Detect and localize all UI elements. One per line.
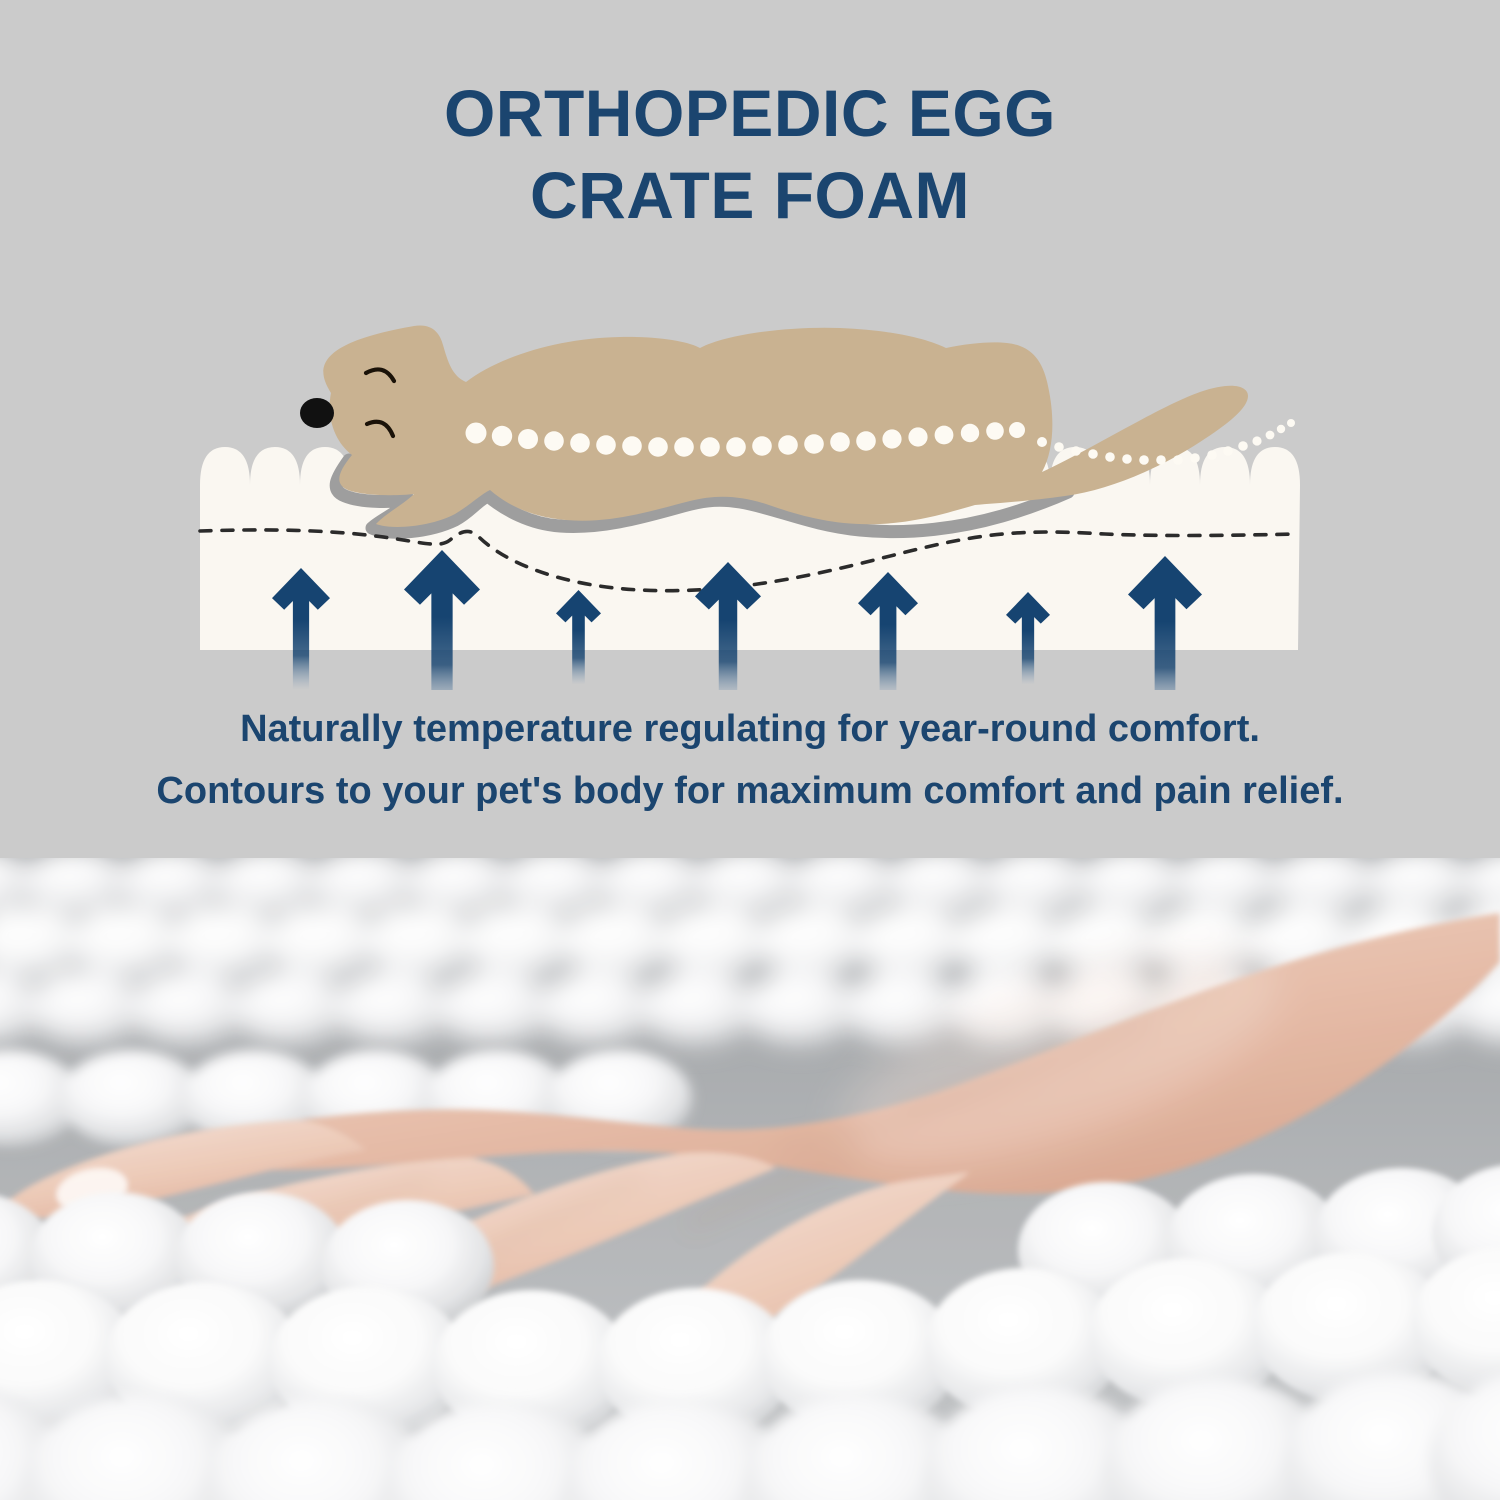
feature-caption-line-2: Contours to your pet's body for maximum … bbox=[0, 760, 1500, 822]
feature-caption: Naturally temperature regulating for yea… bbox=[0, 698, 1500, 822]
page-title-line-2: CRATE FOAM bbox=[0, 154, 1500, 236]
info-panel: ORTHOPEDIC EGG CRATE FOAM bbox=[0, 0, 1500, 858]
page-title: ORTHOPEDIC EGG CRATE FOAM bbox=[0, 72, 1500, 236]
hand-pressing-egg-crate-foam-photo bbox=[0, 858, 1500, 1500]
dog-nose bbox=[300, 398, 334, 428]
orthopedic-foam-support-diagram bbox=[0, 300, 1500, 690]
feature-caption-line-1: Naturally temperature regulating for yea… bbox=[0, 698, 1500, 760]
product-infographic-page: ORTHOPEDIC EGG CRATE FOAM bbox=[0, 0, 1500, 1500]
page-title-line-1: ORTHOPEDIC EGG bbox=[0, 72, 1500, 154]
